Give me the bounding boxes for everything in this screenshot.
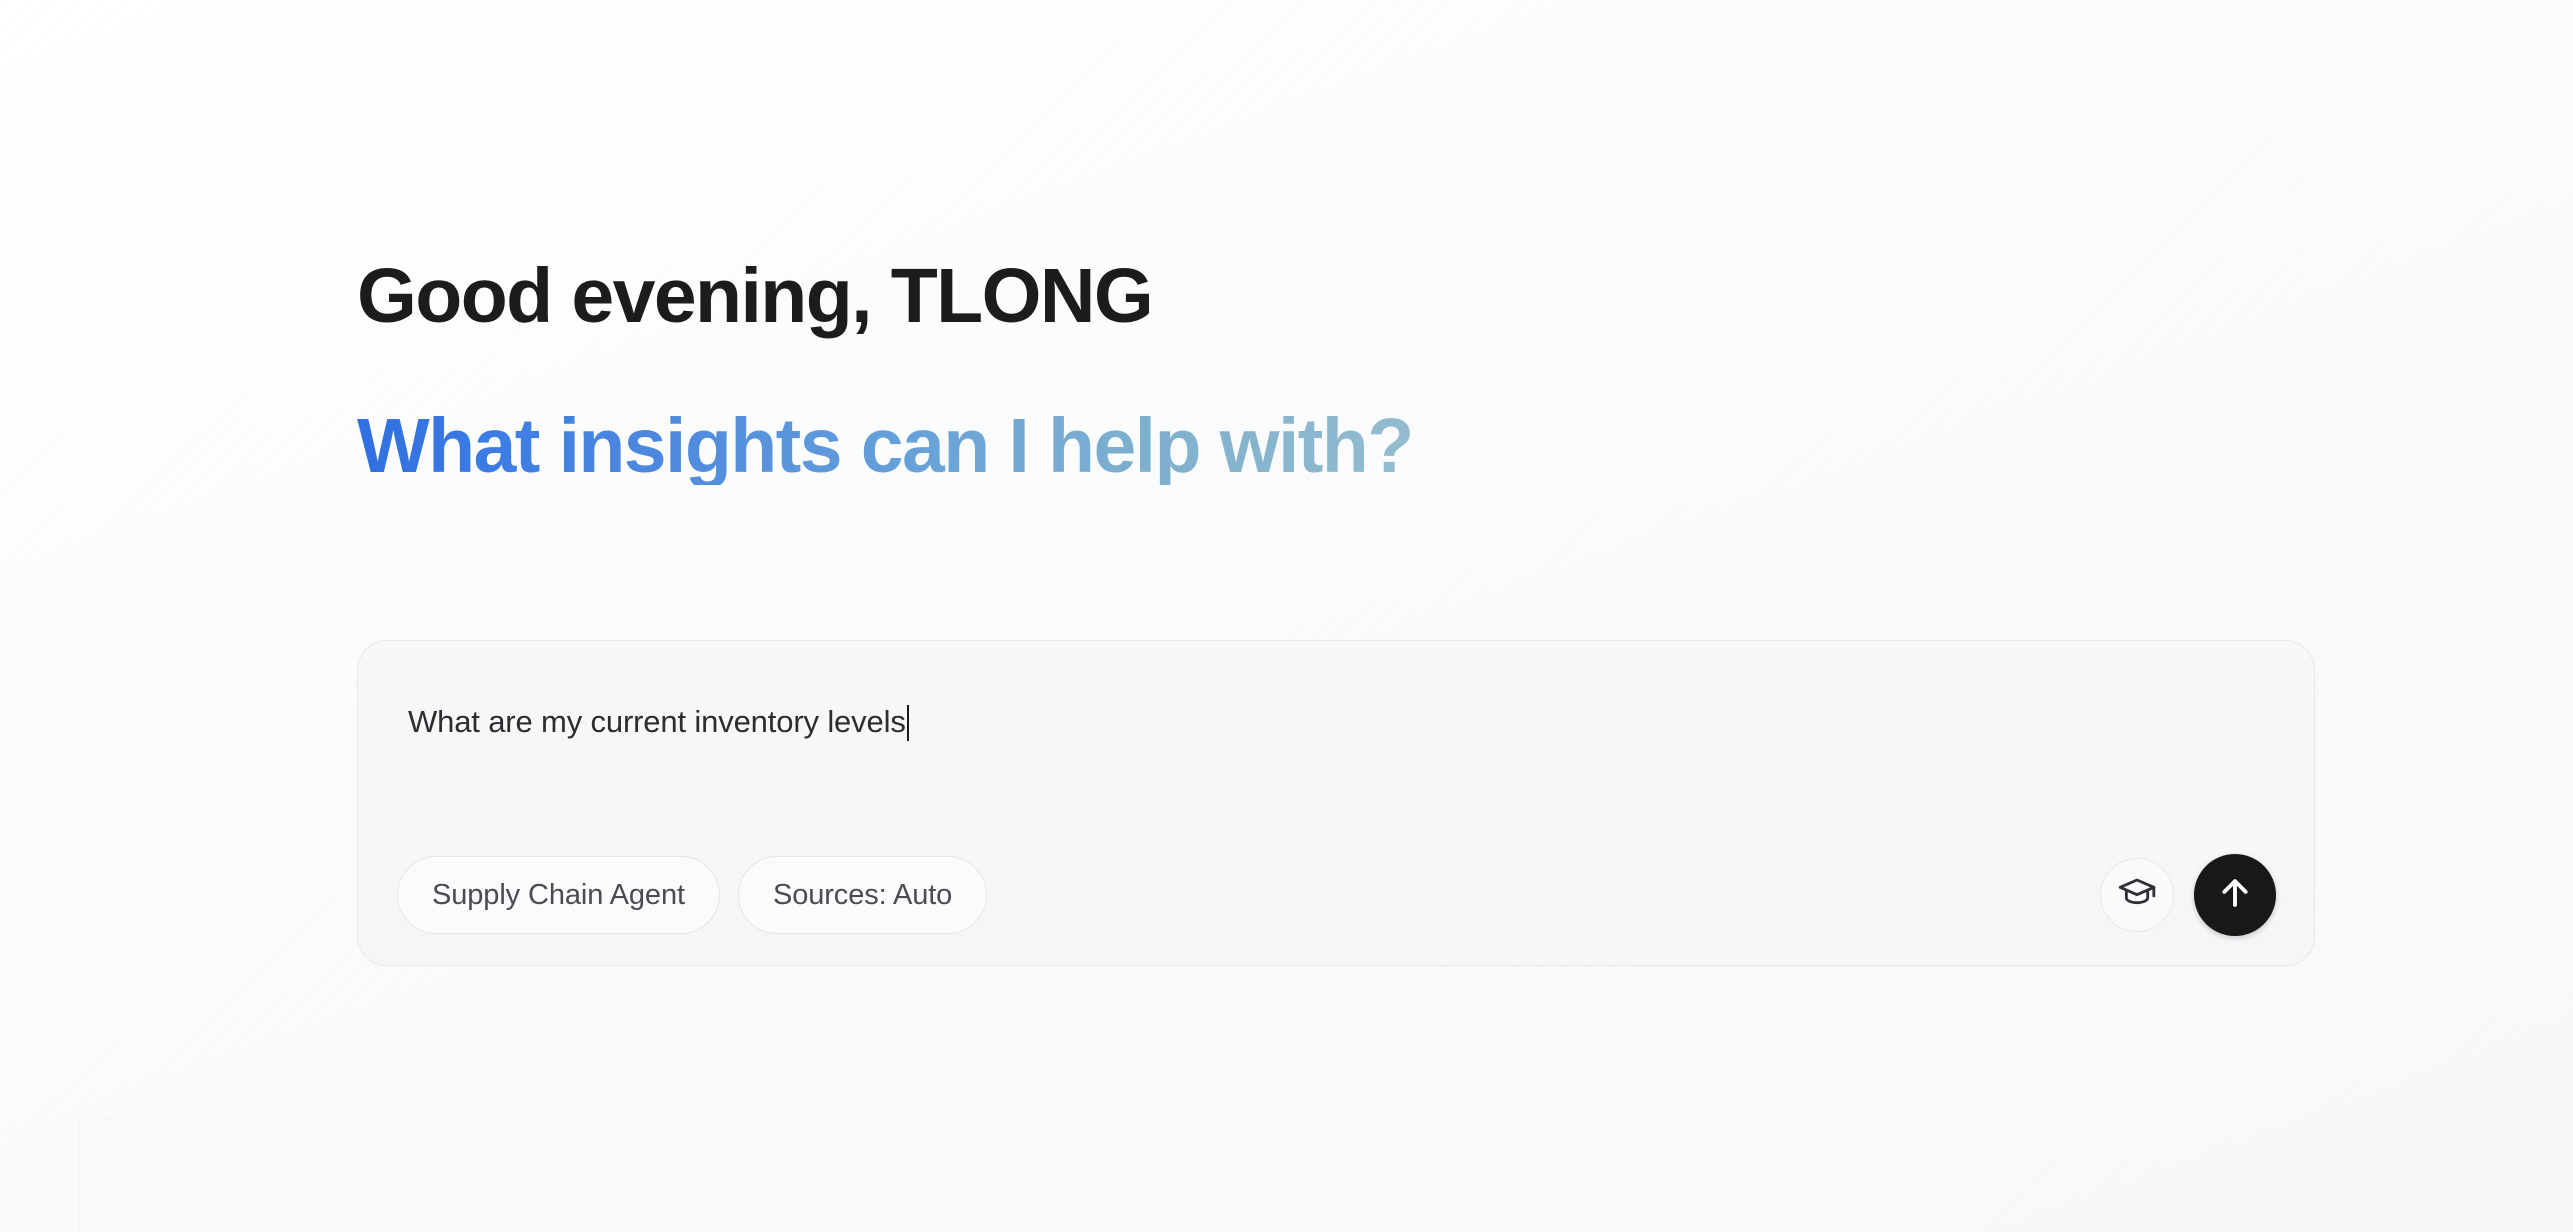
subheading-prompt: What insights can I help with? [357,408,1413,485]
agent-chip[interactable]: Supply Chain Agent [397,856,720,934]
graduation-cap-icon [2117,873,2157,918]
composer-toolbar: Supply Chain Agent Sources: Auto [397,855,2276,935]
text-caret [907,705,909,741]
composer-chip-group: Supply Chain Agent Sources: Auto [397,856,987,934]
arrow-up-icon [2215,873,2255,918]
composer-action-group [2100,854,2276,936]
greeting-heading: Good evening, TLONG [357,258,1152,335]
sources-chip[interactable]: Sources: Auto [738,856,987,934]
send-button[interactable] [2194,854,2276,936]
composer-input-row[interactable]: What are my current inventory levels [408,703,2264,740]
composer-input-text[interactable]: What are my current inventory levels [408,703,906,740]
home-stage: Good evening, TLONG What insights can I … [0,0,2573,1232]
learn-mode-button[interactable] [2100,858,2174,932]
composer-container[interactable]: What are my current inventory levels Sup… [357,640,2315,966]
